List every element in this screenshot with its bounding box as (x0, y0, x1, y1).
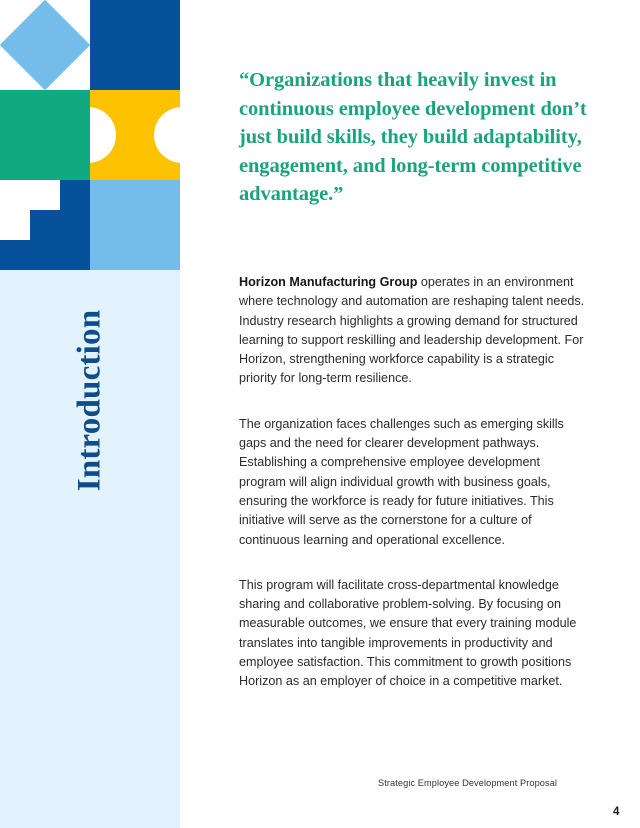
diamond-shape (0, 0, 90, 90)
section-title-vertical: Introduction (0, 270, 180, 530)
pattern-cell-diamond (0, 0, 90, 90)
paragraph-3: This program will facilitate cross-depar… (239, 576, 587, 692)
pattern-cell-staircase (0, 180, 90, 270)
paragraph-1-lead-in: Horizon Manufacturing Group (239, 275, 417, 289)
staircase-shape (0, 180, 90, 270)
section-title-text: Introduction (72, 309, 109, 491)
paragraph-1-text: operates in an environment where technol… (239, 275, 584, 385)
hourglass-notch-right (154, 107, 180, 163)
hourglass-shape (90, 90, 180, 180)
pattern-cell-hourglass (90, 90, 180, 180)
paragraph-2-text: The organization faces challenges such a… (239, 417, 564, 547)
decorative-pattern-grid (0, 0, 180, 270)
page-number: 4 (613, 806, 619, 818)
pattern-cell-blue-square (90, 180, 180, 270)
paragraph-1: Horizon Manufacturing Group operates in … (239, 273, 587, 389)
paragraph-2: The organization faces challenges such a… (239, 415, 587, 550)
pattern-cell-navy-square (90, 0, 180, 90)
sidebar-panel: Introduction (0, 0, 180, 828)
pull-quote: “Organizations that heavily invest in co… (239, 66, 587, 209)
document-page: Introduction “Organizations that heavily… (0, 0, 640, 828)
footer-note: Strategic Employee Development Proposal (378, 778, 557, 788)
staircase-step-3 (0, 240, 90, 270)
hourglass-notch-left (90, 107, 116, 163)
pattern-cell-green-square (0, 90, 90, 180)
main-content: “Organizations that heavily invest in co… (239, 0, 587, 692)
paragraph-3-text: This program will facilitate cross-depar… (239, 578, 576, 688)
body-copy: Horizon Manufacturing Group operates in … (239, 273, 587, 692)
